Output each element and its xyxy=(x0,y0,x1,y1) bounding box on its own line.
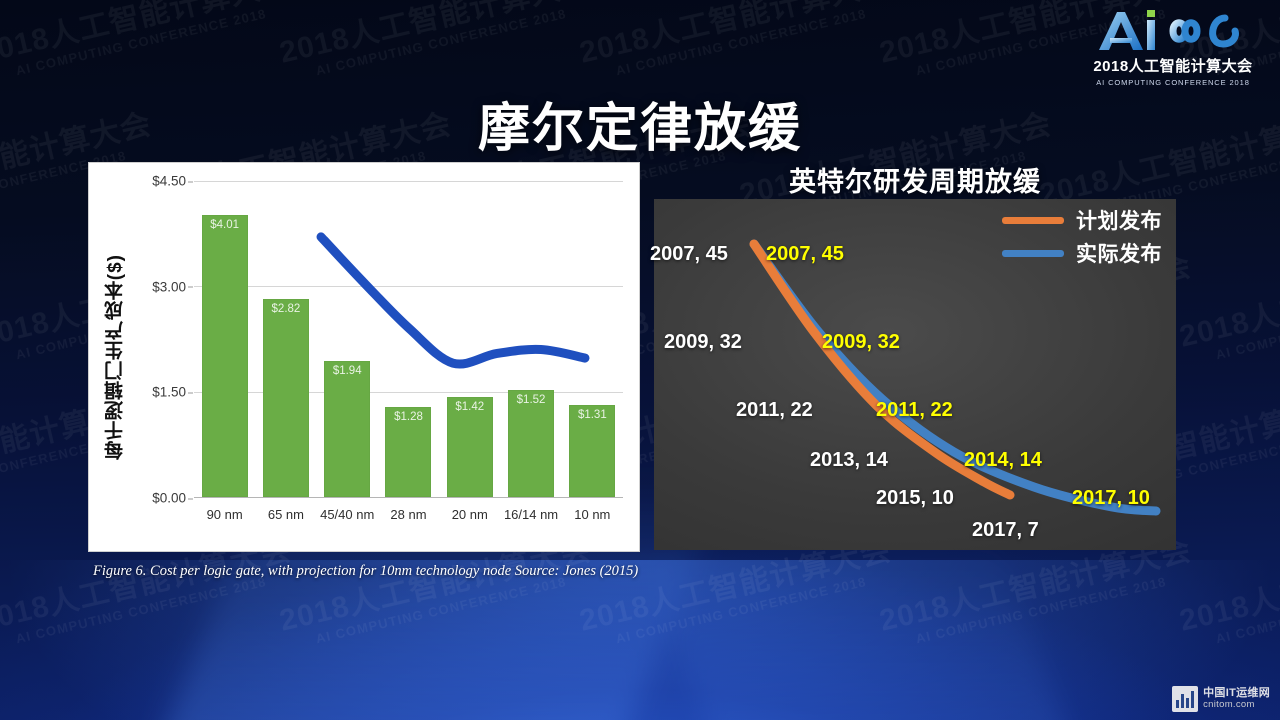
bar-chart-panel: 每千逻辑门生产成本($) $0.00$1.50$3.00$4.50 $4.01$… xyxy=(88,162,640,552)
x-axis-tick-label: 65 nm xyxy=(255,501,316,533)
site-url: cnitom.com xyxy=(1203,700,1270,711)
bar-slot: $4.01 xyxy=(194,181,255,497)
bar: $4.01 xyxy=(202,215,248,497)
bar-slot: $1.31 xyxy=(562,181,623,497)
point-label-planned: 2011, 22 xyxy=(736,399,813,422)
bar-value-label: $1.42 xyxy=(447,401,493,413)
y-axis-tick-label: $0.00 xyxy=(152,491,186,506)
bar: $2.82 xyxy=(263,299,309,497)
bar-slot: $1.52 xyxy=(500,181,561,497)
point-label-planned: 2013, 14 xyxy=(810,449,888,472)
figure-caption: Figure 6. Cost per logic gate, with proj… xyxy=(93,562,653,582)
bar-value-label: $4.01 xyxy=(202,219,248,231)
bar-chart-y-axis-label: 每千逻辑门生产成本($) xyxy=(93,163,137,551)
bar-chart-plot-area: $0.00$1.50$3.00$4.50 $4.01$2.82$1.94$1.2… xyxy=(194,181,623,497)
gridline: $0.00 xyxy=(194,497,623,498)
point-label-actual: 2017, 10 xyxy=(1072,487,1150,510)
bar-value-label: $1.31 xyxy=(569,409,615,421)
bar-slot: $1.94 xyxy=(317,181,378,497)
point-label-planned: 2015, 10 xyxy=(876,487,954,510)
bar-slot: $2.82 xyxy=(255,181,316,497)
point-label-planned: 2007, 45 xyxy=(650,243,728,266)
x-axis-tick-label: 20 nm xyxy=(439,501,500,533)
x-axis-tick-label: 45/40 nm xyxy=(317,501,378,533)
watermark-tile: 2018人工智能计算大会AI COMPUTING CONFERENCE 2018 xyxy=(576,0,898,86)
bar: $1.31 xyxy=(569,405,615,497)
y-axis-tick-label: $4.50 xyxy=(152,174,186,189)
site-watermark-badge: 中国IT运维网 cnitom.com xyxy=(1172,686,1270,712)
y-axis-tick-label: $3.00 xyxy=(152,279,186,294)
bottom-glow xyxy=(0,560,1280,720)
bar: $1.52 xyxy=(508,390,554,497)
x-axis-tick-label: 16/14 nm xyxy=(500,501,561,533)
point-label-planned: 2009, 32 xyxy=(664,331,742,354)
watermark-tile: 2018人工智能计算大会AI COMPUTING CONFERENCE 2018 xyxy=(0,0,298,86)
point-label-actual: 2014, 14 xyxy=(964,449,1042,472)
watermark-tile: 2018人工智能计算大会AI COMPUTING CONFERENCE 2018 xyxy=(276,0,598,86)
site-name: 中国IT运维网 xyxy=(1203,687,1270,700)
point-label-actual: 2011, 22 xyxy=(876,399,953,422)
watermark-tile: 2018人工智能计算大会AI COMPUTING CONFERENCE 2018 xyxy=(1176,250,1280,370)
bar: $1.94 xyxy=(324,361,370,497)
logo-chinese-name: 2018人工智能计算大会 xyxy=(1088,55,1258,76)
bar-slot: $1.28 xyxy=(378,181,439,497)
x-axis-tick-label: 90 nm xyxy=(194,501,255,533)
bar-value-label: $1.94 xyxy=(324,365,370,377)
bar-chart-y-axis-label-text: 每千逻辑门生产成本($) xyxy=(102,254,129,460)
conference-logo: 2018人工智能计算大会 AI COMPUTING CONFERENCE 201… xyxy=(1088,8,1258,87)
bar-chart-bars: $4.01$2.82$1.94$1.28$1.42$1.52$1.31 xyxy=(194,181,623,497)
right-chart-subtitle: 英特尔研发周期放缓 xyxy=(654,160,1176,199)
bar-chart-x-axis: 90 nm65 nm45/40 nm28 nm20 nm16/14 nm10 n… xyxy=(194,501,623,533)
slide-title: 摩尔定律放缓 xyxy=(0,86,1280,161)
bar: $1.28 xyxy=(385,407,431,497)
bar-slot: $1.42 xyxy=(439,181,500,497)
point-label-actual: 2009, 32 xyxy=(822,331,900,354)
y-axis-tick-label: $1.50 xyxy=(152,385,186,400)
slide-canvas: 2018人工智能计算大会AI COMPUTING CONFERENCE 2018… xyxy=(0,0,1280,720)
point-label-planned: 2017, 7 xyxy=(972,519,1039,542)
logo-mark-icon xyxy=(1088,8,1258,54)
bar-value-label: $1.52 xyxy=(508,394,554,406)
line-chart-panel: 计划发布 实际发布 2007, 452009, 322011, 222013, … xyxy=(654,199,1176,550)
bar-value-label: $2.82 xyxy=(263,303,309,315)
bar: $1.42 xyxy=(447,397,493,497)
x-axis-tick-label: 28 nm xyxy=(378,501,439,533)
bar-value-label: $1.28 xyxy=(385,411,431,423)
site-logo-icon xyxy=(1172,686,1198,712)
x-axis-tick-label: 10 nm xyxy=(562,501,623,533)
point-label-actual: 2007, 45 xyxy=(766,243,844,266)
